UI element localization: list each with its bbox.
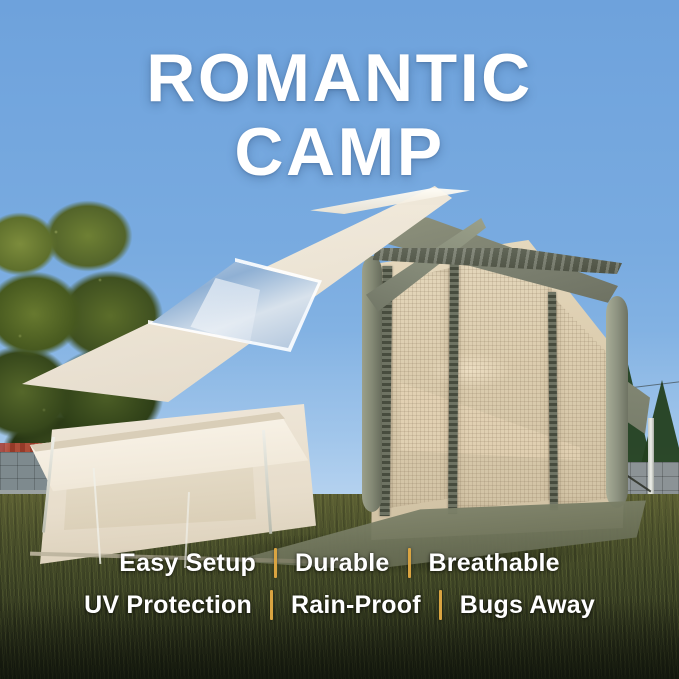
tent-mesh-panel-right <box>556 300 612 506</box>
feature-durable: Durable <box>295 549 389 578</box>
tent-mesh-panel-left <box>388 268 450 508</box>
feature-bugs-away: Bugs Away <box>460 591 595 620</box>
tent-right-air-beam <box>606 296 628 508</box>
feature-uv-protection: UV Protection <box>84 591 252 620</box>
feature-divider-icon <box>439 590 442 620</box>
feature-divider-icon <box>270 590 273 620</box>
feature-divider-icon <box>274 548 277 578</box>
feature-list: Easy Setup Durable Breathable UV Protect… <box>0 548 679 632</box>
feature-easy-setup: Easy Setup <box>119 549 256 578</box>
product-poster: ROMANTIC CAMP <box>0 0 679 679</box>
feature-breathable: Breathable <box>429 549 560 578</box>
feature-row-1: Easy Setup Durable Breathable <box>0 548 679 578</box>
feature-rain-proof: Rain-Proof <box>291 591 421 620</box>
tent-mesh-door-panel <box>456 256 552 510</box>
feature-row-2: UV Protection Rain-Proof Bugs Away <box>0 590 679 620</box>
tent-zipper-center <box>448 258 459 514</box>
feature-divider-icon <box>408 548 411 578</box>
